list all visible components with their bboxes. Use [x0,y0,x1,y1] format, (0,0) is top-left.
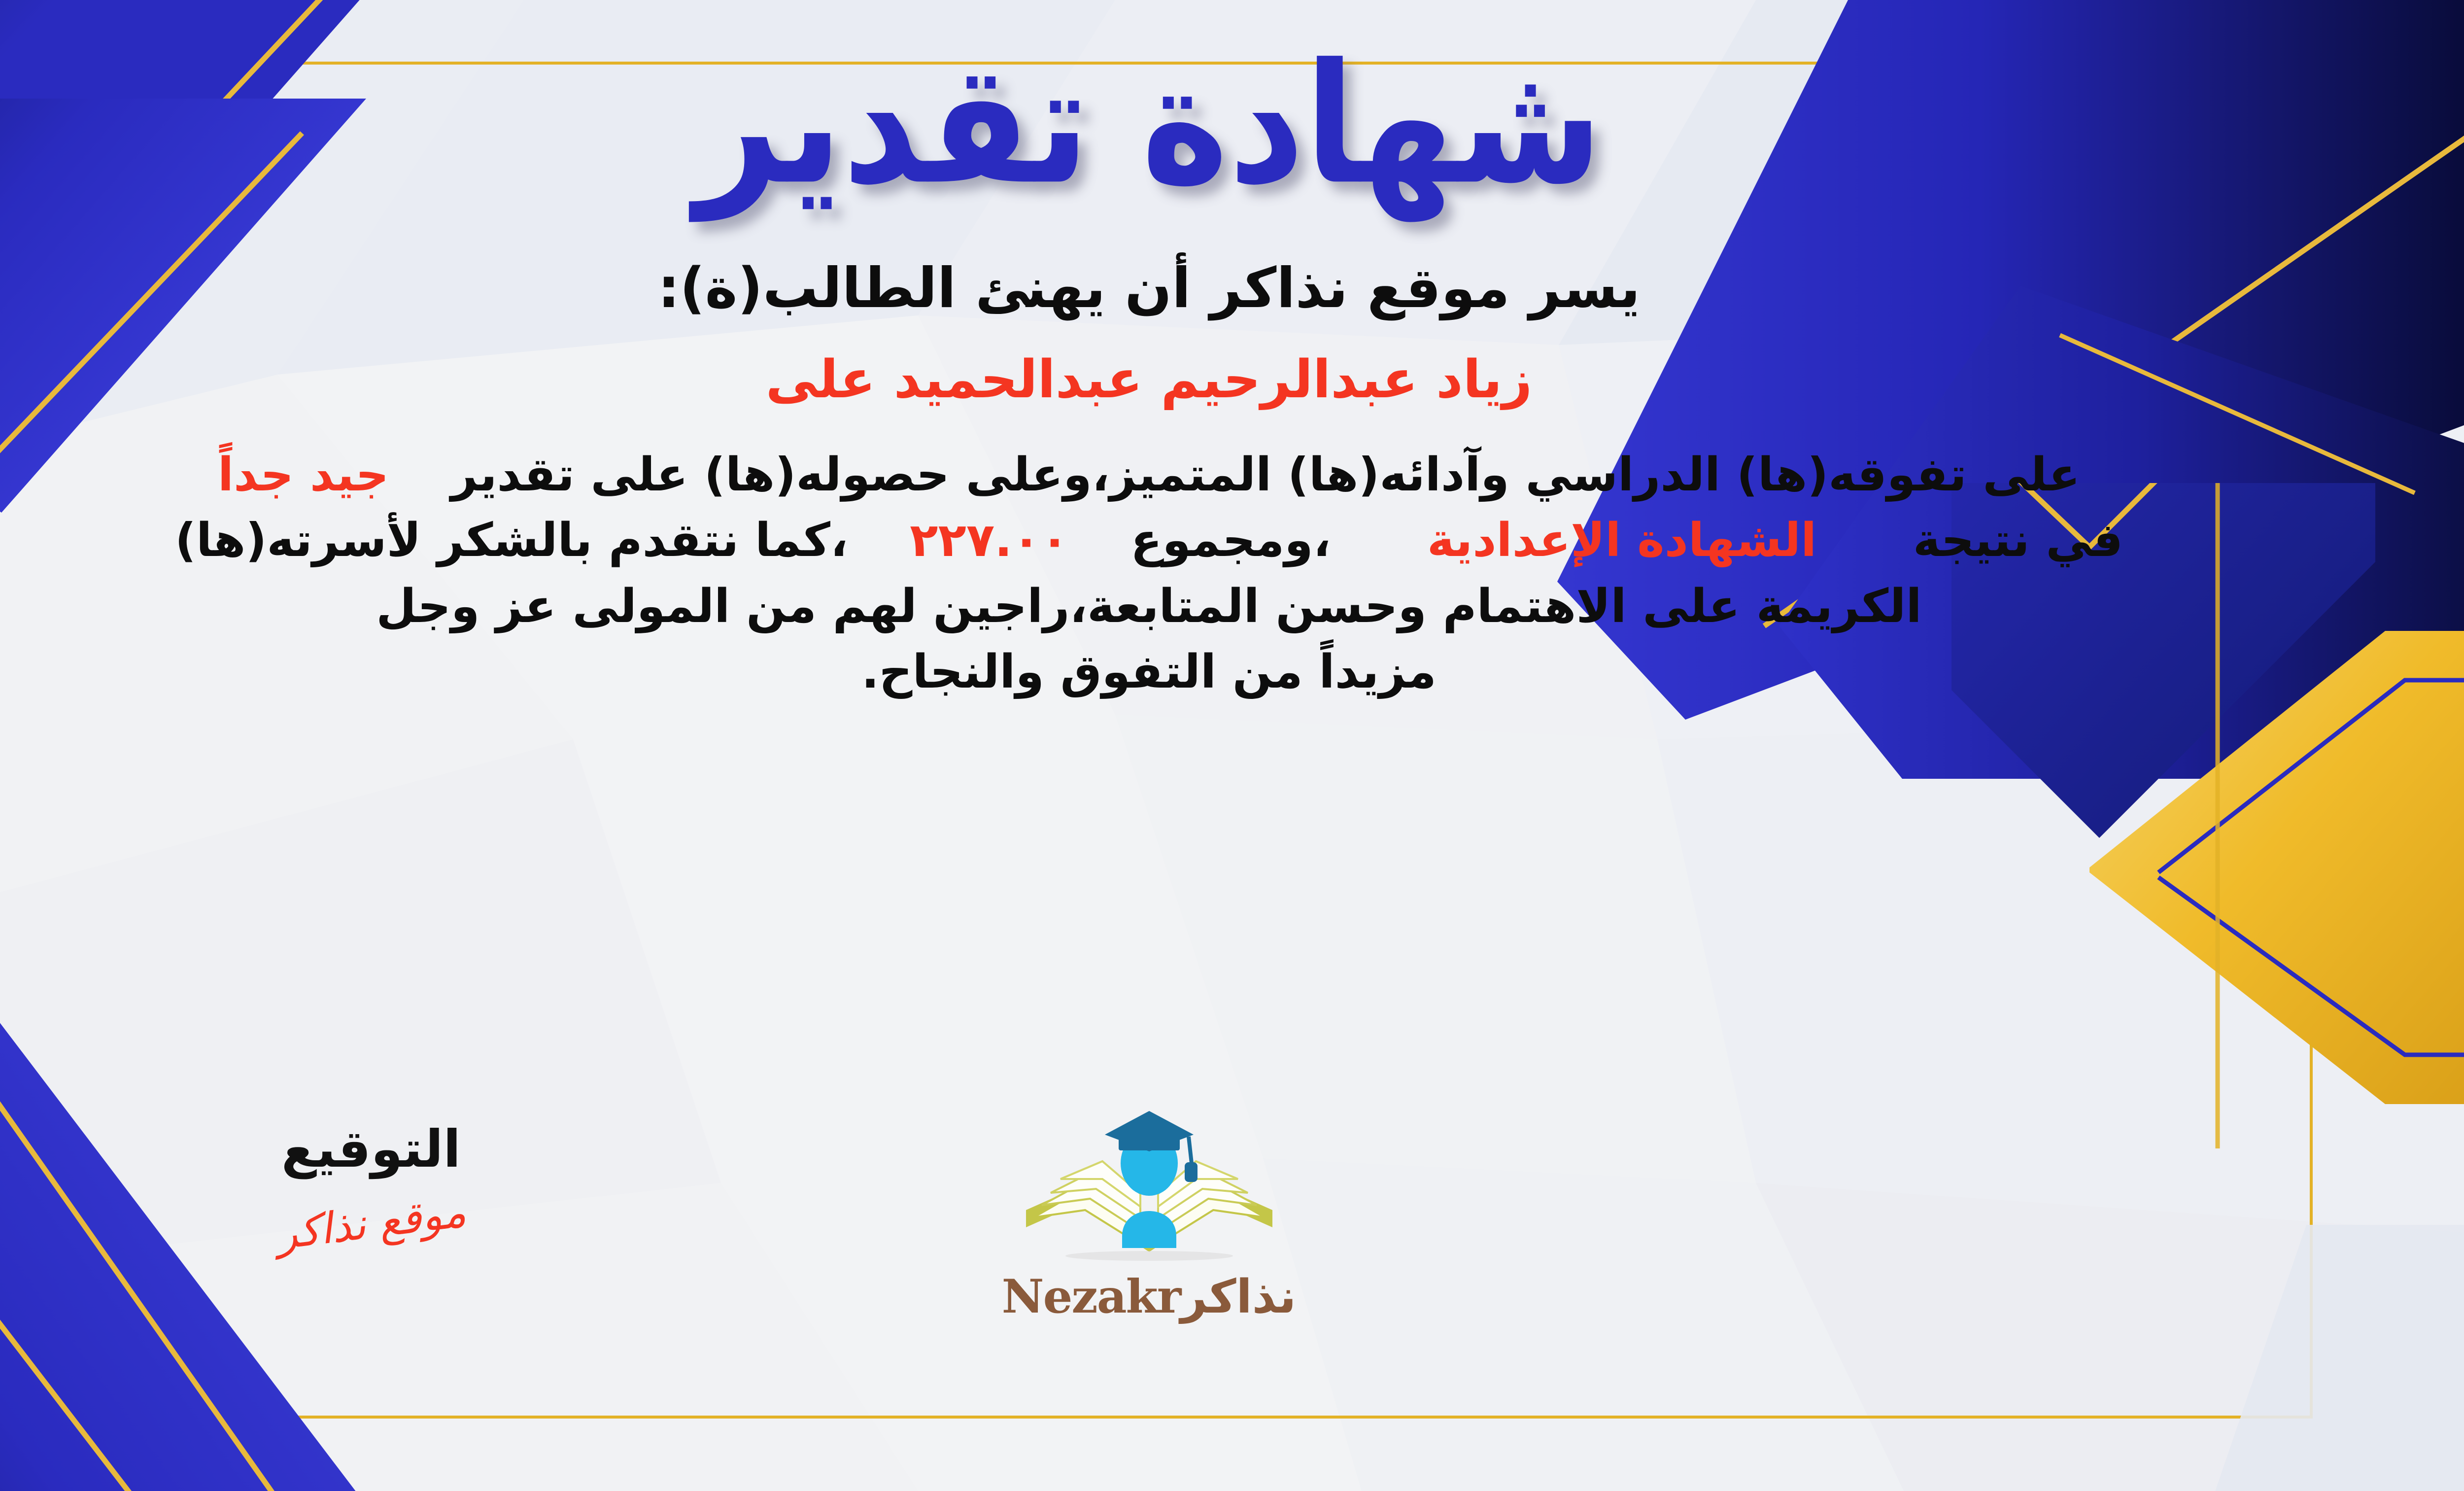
body-line-3: الكريمة على الاهتمام وحسن المتابعة،راجين… [26,574,2273,639]
certificate-canvas: شهادة تقدير يسر موقع نذاكر أن يهنئ الطال… [0,0,2464,1491]
certificate-footer: التوقيع موقع نذاكر [0,1104,2464,1400]
grade-value: جيد جداً [218,448,389,502]
body-line-4: مزيداً من التفوق والنجاح. [26,639,2273,705]
student-name: زياد عبدالرحيم عبدالحميد على [766,349,1532,410]
signature-label: التوقيع [218,1119,524,1179]
brand-name-latin: Nezakr [1002,1270,1181,1324]
signature-mark: موقع نذاكر [274,1187,468,1259]
certificate-body: على تفوقه(ها) الدراسي وآدائه(ها) المتميز… [26,442,2273,705]
certificate-type: الشهادة الإعدادية [1427,514,1816,567]
body-line-2-prefix: في نتيجة [1913,514,2123,567]
certificate-title: شهادة تقدير [695,37,1603,211]
body-line-1: على تفوقه(ها) الدراسي وآدائه(ها) المتميز… [26,442,2273,508]
body-line-2-mid: ،ومجموع [1130,514,1331,567]
brand-logo: Nezakrنذاكر [957,1104,1341,1324]
greeting-line: يسر موقع نذاكر أن يهنئ الطالب(ة): [658,256,1641,320]
signature-area: التوقيع موقع نذاكر [218,1119,524,1248]
brand-name-arabic: نذاكر [1180,1270,1296,1324]
body-line-1-text: على تفوقه(ها) الدراسي وآدائه(ها) المتميز… [451,448,2080,502]
graduate-book-icon [1011,1104,1287,1267]
body-line-2-suffix: ،كما نتقدم بالشكر لأسرته(ها) [175,514,848,567]
body-line-2: في نتيجة الشهادة الإعدادية ،ومجموع ٢٢٧.٠… [26,508,2273,573]
total-score: ٢٢٧.٠٠ [910,514,1069,567]
brand-wordmark: Nezakrنذاكر [957,1270,1341,1324]
